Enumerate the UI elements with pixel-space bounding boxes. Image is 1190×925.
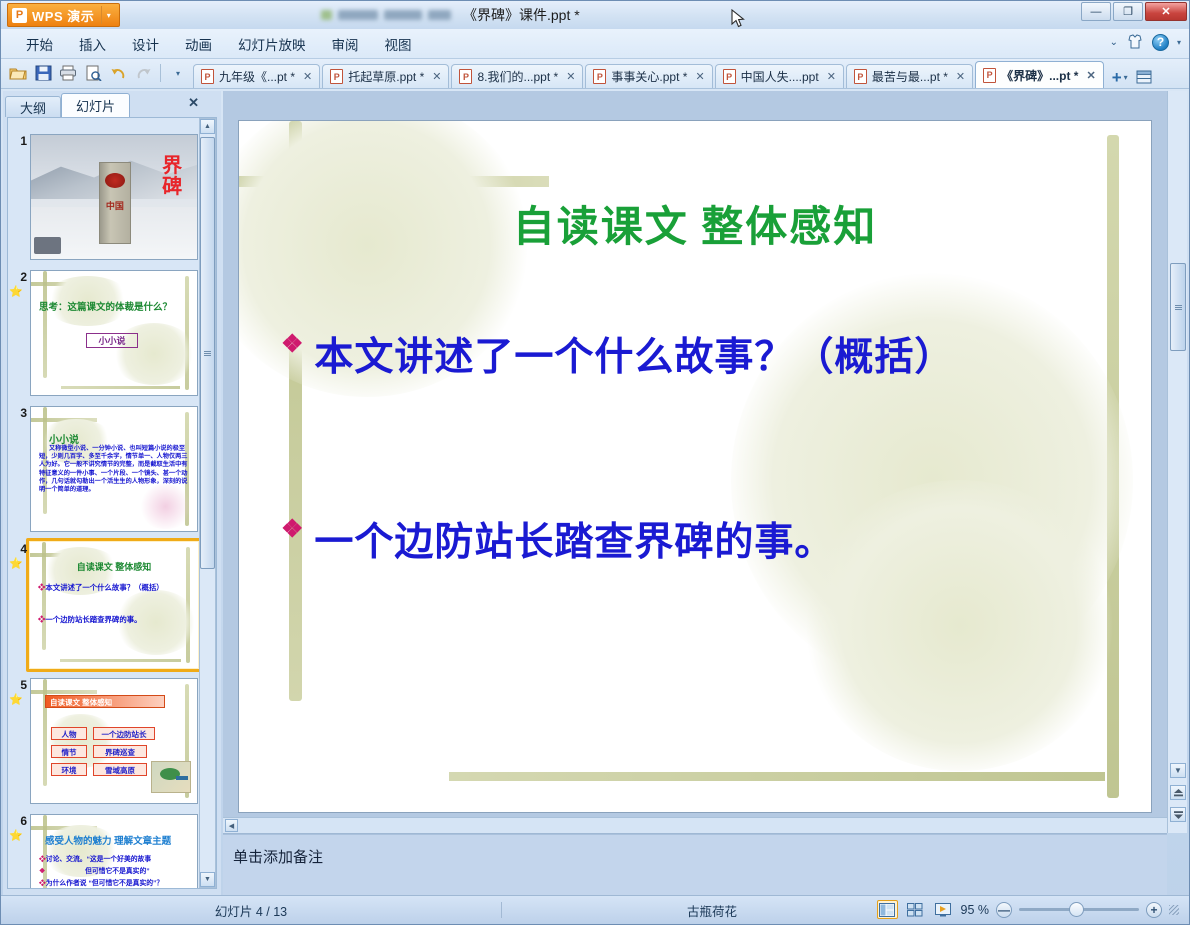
vine-decoration — [43, 271, 47, 378]
slide-number: 6 — [11, 814, 27, 828]
thumb-title: 思考：这篇课文的体裁是什么？ — [39, 299, 172, 313]
thumb-answer-box: 小小说 — [86, 333, 138, 348]
close-button[interactable]: ✕ — [1145, 2, 1187, 21]
thumb-pair-left-1: 人物 — [51, 727, 87, 740]
ppt-file-icon: P — [593, 69, 606, 84]
scrollbar-thumb[interactable] — [200, 137, 215, 569]
zoom-in-button[interactable]: + — [1146, 902, 1162, 918]
menu-design[interactable]: 设计 — [119, 30, 172, 58]
stacked-windows-icon[interactable] — [1136, 70, 1153, 85]
status-bar: 幻灯片 4 / 13 古瓶荷花 — [1, 895, 1189, 924]
close-icon[interactable]: ✕ — [303, 70, 312, 83]
doc-tab-1[interactable]: P 九年级《...pt * ✕ — [193, 64, 320, 88]
lotus-blob — [804, 480, 1114, 770]
animation-star-icon: ⭐ — [9, 285, 23, 298]
print-preview-icon[interactable] — [82, 62, 104, 84]
doc-tab-4[interactable]: P 事事关心.ppt * ✕ — [585, 64, 712, 88]
stage-horizontal-scrollbar[interactable]: ◀ — [223, 817, 1167, 833]
undo-icon[interactable] — [107, 62, 129, 84]
app-name-label: WPS 演示 — [32, 6, 94, 25]
ppt-file-icon: P — [723, 69, 736, 84]
doc-tab-label: 事事关心.ppt * — [611, 68, 687, 85]
slide-thumbnail-list[interactable]: 1 中国 界碑 2 ⭐ — [7, 117, 217, 889]
scrollbar-thumb[interactable] — [1170, 263, 1186, 351]
slide-bullet-text: 一个边防站长踏查界碑的事。 — [314, 511, 834, 567]
scroll-down-button[interactable]: ▼ — [1170, 763, 1186, 778]
wps-presentation-window: P WPS 演示 ▾ 《界碑》课件.ppt * — ❐ ✕ 开始 插入 设计 动… — [0, 0, 1190, 925]
slide-preview: 自读课文 整体感知 人物 一个边防站长 情节 界碑巡查 环境 雪域高原 — [30, 678, 198, 804]
ppt-file-icon: P — [201, 69, 214, 84]
normal-view-button[interactable] — [877, 900, 898, 919]
close-icon[interactable]: ✕ — [1086, 69, 1095, 82]
diamond-bullet-icon: ❖ — [281, 326, 304, 364]
redo-icon[interactable] — [132, 62, 154, 84]
doc-tab-5[interactable]: P 中国人失....ppt ✕ — [715, 64, 844, 88]
slide-bullet-text: 本文讲述了一个什么故事？（概括） — [314, 326, 954, 382]
thumb-bullet-1: ❖讨论、交流。“这是一个好美的故事 — [39, 853, 151, 863]
doc-tab-label: 九年级《...pt * — [219, 68, 295, 85]
thumb-pair-right-3: 雪域高原 — [93, 763, 147, 776]
thumb-bullet-1: ❖本文讲述了一个什么故事？（概括） — [38, 582, 164, 593]
thumb-title-banner: 自读课文 整体感知 — [45, 695, 165, 708]
grip-lines-icon — [204, 351, 211, 356]
blur-chip — [321, 10, 332, 20]
doc-tab-label: 8.我们的...ppt * — [477, 68, 558, 85]
thumb-title: 小小说 — [49, 431, 79, 446]
blur-chip — [384, 10, 423, 20]
tab-outline[interactable]: 大纲 — [5, 96, 61, 117]
stage-vertical-scrollbar[interactable]: ▼ — [1167, 91, 1187, 833]
panel-tabs: 大纲 幻灯片 — [5, 93, 130, 117]
slide-bullet-2[interactable]: ❖ 一个边防站长踏查界碑的事。 — [281, 511, 834, 567]
slide-number: 2 — [11, 270, 27, 284]
ppt-file-icon: P — [330, 69, 343, 84]
slideshow-button[interactable] — [933, 900, 954, 919]
close-icon[interactable]: ✕ — [827, 70, 836, 83]
thumb-pair-left-3: 环境 — [51, 763, 87, 776]
close-icon[interactable]: ✕ — [566, 70, 575, 83]
doc-tab-6[interactable]: P 最苦与最...pt * ✕ — [846, 64, 973, 88]
menu-items: 开始 插入 设计 动画 幻灯片放映 审阅 视图 — [13, 29, 425, 59]
border-marker-photo: 中国 界碑 — [31, 135, 197, 259]
scroll-down-button[interactable]: ▼ — [200, 872, 215, 887]
ppt-file-icon: P — [983, 68, 996, 83]
wps-logo-icon: P — [12, 8, 27, 23]
scroll-up-button[interactable]: ▲ — [200, 119, 215, 134]
slide-editing-stage: 自读课文 整体感知 ❖ 本文讲述了一个什么故事？（概括） ❖ 一个边防站长踏查界… — [223, 91, 1167, 833]
tab-slides[interactable]: 幻灯片 — [61, 93, 130, 117]
menu-start[interactable]: 开始 — [13, 30, 66, 58]
vehicle-shape — [34, 237, 61, 254]
blur-chip — [428, 10, 451, 20]
menu-slideshow[interactable]: 幻灯片放映 — [225, 30, 319, 58]
current-slide-canvas[interactable]: 自读课文 整体感知 ❖ 本文讲述了一个什么故事？（概括） ❖ 一个边防站长踏查界… — [239, 121, 1151, 812]
open-icon[interactable] — [7, 62, 29, 84]
zoom-slider[interactable] — [1019, 908, 1139, 911]
slide-preview: 感受人物的魅力 理解文章主题 ❖讨论、交流。“这是一个好美的故事 ❖但可惜它不是… — [30, 814, 198, 889]
vine-decoration — [61, 386, 181, 389]
zoom-controls: 95 % — + — [877, 900, 1180, 919]
document-title: 《界碑》课件.ppt * — [463, 5, 580, 25]
zoom-out-button[interactable]: — — [996, 902, 1012, 918]
slides-panel: 大纲 幻灯片 ✕ 1 中国 界碑 — [3, 91, 221, 895]
resize-grip-icon[interactable] — [1169, 905, 1179, 915]
doc-tab-label: 托起草原.ppt * — [348, 68, 424, 85]
doc-tab-7-active[interactable]: P 《界碑》...pt * ✕ — [975, 61, 1104, 88]
diamond-bullet-icon: ❖ — [281, 511, 304, 549]
window-controls: — ❐ ✕ — [1079, 2, 1187, 21]
slide-preview: 中国 界碑 — [30, 134, 198, 260]
mouse-cursor-icon — [731, 9, 745, 29]
slides-panel-scrollbar[interactable]: ▲ ▼ — [199, 118, 216, 888]
monument-label: 中国 — [101, 199, 129, 212]
toolbar-divider — [160, 64, 161, 82]
slide-preview: 自读课文 整体感知 ❖本文讲述了一个什么故事？（概括） ❖一个边防站长踏查界碑的… — [30, 542, 198, 668]
chevron-down-icon[interactable]: ▾ — [101, 6, 115, 24]
thumb-bullet-2: ❖一个边防站长踏查界碑的事。 — [38, 614, 142, 625]
minimize-button[interactable]: — — [1081, 2, 1111, 21]
save-icon[interactable] — [32, 62, 54, 84]
slide-number: 5 — [11, 678, 27, 692]
notes-placeholder[interactable]: 单击添加备注 — [233, 846, 323, 867]
customize-caret-icon[interactable]: ▾ — [167, 62, 189, 84]
slide-number: 1 — [11, 134, 27, 148]
notes-pane[interactable]: 单击添加备注 — [223, 833, 1167, 895]
app-menu-button[interactable]: P WPS 演示 ▾ — [7, 3, 120, 27]
next-slide-button[interactable] — [1170, 807, 1186, 822]
thumb-bullet-2: ❖但可惜它不是真实的” — [39, 865, 150, 875]
slide-number: 3 — [11, 406, 27, 420]
doc-tab-label: 中国人失....ppt — [741, 68, 819, 85]
maximize-button[interactable]: ❐ — [1113, 2, 1143, 21]
dropdown-caret-icon[interactable]: ▾ — [1177, 38, 1181, 47]
help-icon[interactable]: ? — [1152, 34, 1169, 51]
print-icon[interactable] — [57, 62, 79, 84]
slide-preview: 思考：这篇课文的体裁是什么？ 小小说 — [30, 270, 198, 396]
menu-animation[interactable]: 动画 — [172, 30, 225, 58]
divider — [223, 834, 1167, 835]
theme-name: 古瓶荷花 — [502, 901, 922, 920]
animation-star-icon: ⭐ — [9, 557, 23, 570]
skin-icon[interactable] — [1126, 33, 1144, 51]
doc-tab-3[interactable]: P 8.我们的...ppt * ✕ — [451, 64, 583, 88]
menu-bar-right: ⌄ ? ▾ — [1110, 33, 1181, 51]
blur-chip — [338, 10, 378, 20]
slide-sorter-button[interactable] — [905, 900, 926, 919]
thumb-body: 又称微型小说、一分钟小说、也叫短篇小说的极至短，少则几百字、多至千余字，情节单一… — [39, 445, 191, 494]
thumb-pair-left-2: 情节 — [51, 745, 87, 758]
ppt-file-icon: P — [459, 69, 472, 84]
slide-number: 4 — [11, 542, 27, 556]
zoom-slider-handle[interactable] — [1069, 902, 1084, 917]
thumb-title: 自读课文 整体感知 — [30, 560, 198, 573]
slide-counter: 幻灯片 4 / 13 — [1, 901, 501, 920]
slide1-title-text: 界碑 — [162, 156, 182, 198]
doc-tab-label: 《界碑》...pt * — [1001, 67, 1078, 84]
close-icon[interactable]: ✕ — [695, 70, 704, 83]
slide-title[interactable]: 自读课文 整体感知 — [239, 193, 1151, 254]
animation-star-icon: ⭐ — [9, 693, 23, 706]
tab-actions: + ▾ — [1106, 69, 1157, 88]
scroll-left-button[interactable]: ◀ — [225, 819, 238, 832]
chevron-down-icon[interactable]: ⌄ — [1110, 37, 1118, 48]
zoom-level-label: 95 % — [961, 903, 990, 917]
close-icon[interactable]: ✕ — [956, 70, 965, 83]
doc-tab-2[interactable]: P 托起草原.ppt * ✕ — [322, 64, 449, 88]
document-tab-strip: ▾ P 九年级《...pt * ✕ P 托起草原.ppt * ✕ P 8.我们的… — [1, 59, 1189, 89]
slide-bullet-1[interactable]: ❖ 本文讲述了一个什么故事？（概括） — [281, 326, 954, 382]
vine-decoration — [60, 659, 181, 662]
animation-star-icon: ⭐ — [9, 829, 23, 842]
menu-insert[interactable]: 插入 — [66, 30, 119, 58]
quick-access-toolbar: ▾ — [1, 58, 193, 88]
menu-bar: 开始 插入 设计 动画 幻灯片放映 审阅 视图 ⌄ ? ▾ — [1, 29, 1189, 59]
thumb-pair-right-2: 界碑巡查 — [93, 745, 147, 758]
close-icon[interactable]: ✕ — [432, 70, 441, 83]
ppt-file-icon: P — [854, 69, 867, 84]
slide-preview: 小小说 又称微型小说、一分钟小说、也叫短篇小说的极至短，少则几百字、多至千余字，… — [30, 406, 198, 532]
vine-decoration — [449, 772, 1106, 781]
thumb-pair-right-1: 一个边防站长 — [93, 727, 155, 740]
menu-review[interactable]: 审阅 — [319, 30, 372, 58]
thumb-title: 感受人物的魅力 理解文章主题 — [45, 833, 171, 847]
thumb-bullet-3: ❖为什么作者说 “但可惜它不是真实的”？ — [39, 877, 163, 887]
vine-decoration — [31, 690, 97, 693]
title-bar: P WPS 演示 ▾ 《界碑》课件.ppt * — ❐ ✕ — [1, 1, 1189, 29]
panel-close-icon[interactable]: ✕ — [188, 95, 199, 111]
grip-lines-icon — [1175, 305, 1182, 310]
path-breadcrumb-blurred — [321, 7, 451, 23]
menu-view[interactable]: 视图 — [372, 30, 425, 58]
doc-tab-label: 最苦与最...pt * — [872, 68, 948, 85]
new-tab-button[interactable]: + — [1112, 69, 1122, 86]
new-tab-caret-icon[interactable]: ▾ — [1124, 73, 1128, 82]
bird-image — [151, 761, 191, 793]
previous-slide-button[interactable] — [1170, 785, 1186, 800]
